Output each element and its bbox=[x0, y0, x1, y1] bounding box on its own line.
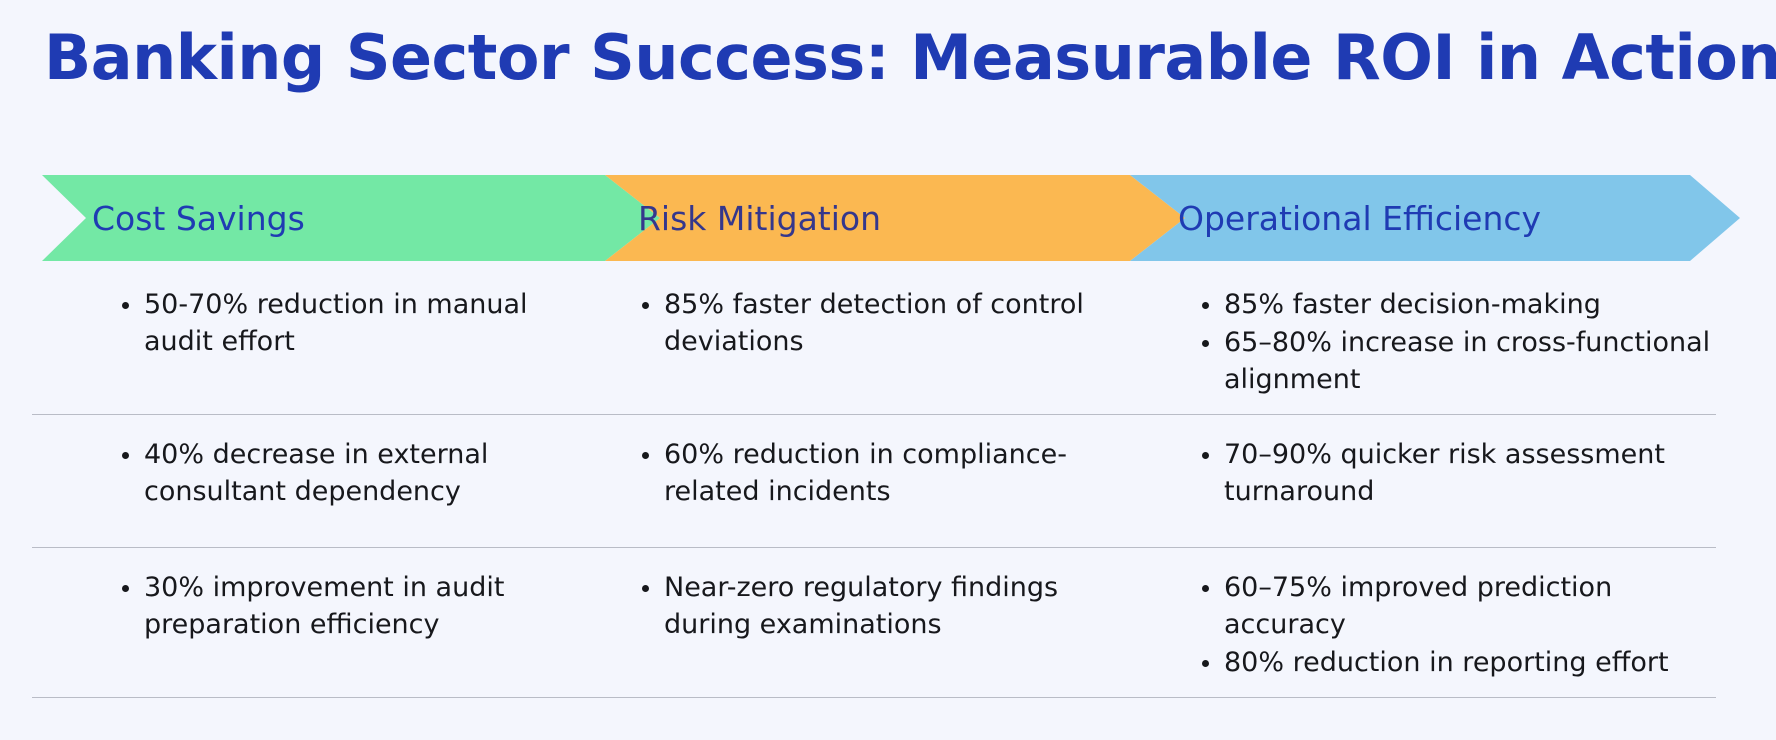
bullet-list: 85% faster decision-making 65–80% increa… bbox=[1180, 286, 1736, 398]
cell-risk-mitigation-3: Near-zero regulatory findings during exa… bbox=[600, 569, 1140, 697]
table-row: 50-70% reduction in manual audit effort … bbox=[0, 282, 1776, 414]
page-title: Banking Sector Success: Measurable ROI i… bbox=[44, 22, 1744, 93]
slide-root: Banking Sector Success: Measurable ROI i… bbox=[0, 0, 1776, 740]
bullet-list: 50-70% reduction in manual audit effort bbox=[100, 286, 570, 360]
bullet-list: 70–90% quicker risk assessment turnaroun… bbox=[1180, 436, 1736, 510]
table-row: 40% decrease in external consultant depe… bbox=[0, 414, 1776, 547]
bullet-list: 60–75% improved prediction accuracy 80% … bbox=[1180, 569, 1736, 681]
bullet-list: Near-zero regulatory findings during exa… bbox=[620, 569, 1110, 643]
list-item: 60–75% improved prediction accuracy bbox=[1202, 569, 1736, 643]
cell-cost-savings-2: 40% decrease in external consultant depe… bbox=[0, 436, 600, 547]
cell-operational-efficiency-1: 85% faster decision-making 65–80% increa… bbox=[1140, 286, 1776, 414]
content-grid: 50-70% reduction in manual audit effort … bbox=[0, 282, 1776, 697]
list-item: Near-zero regulatory findings during exa… bbox=[642, 569, 1110, 643]
cell-operational-efficiency-3: 60–75% improved prediction accuracy 80% … bbox=[1140, 569, 1776, 697]
bullet-list: 60% reduction in compliance-related inci… bbox=[620, 436, 1110, 510]
cell-risk-mitigation-1: 85% faster detection of control deviatio… bbox=[600, 286, 1140, 414]
chevron-shape-cost-savings[interactable] bbox=[42, 175, 660, 261]
chevron-band-svg bbox=[0, 175, 1776, 261]
cell-cost-savings-3: 30% improvement in audit preparation eff… bbox=[0, 569, 600, 697]
list-item: 85% faster detection of control deviatio… bbox=[642, 286, 1110, 360]
cell-cost-savings-1: 50-70% reduction in manual audit effort bbox=[0, 286, 600, 414]
row-divider-1 bbox=[32, 414, 1716, 415]
list-item: 50-70% reduction in manual audit effort bbox=[122, 286, 570, 360]
cell-operational-efficiency-2: 70–90% quicker risk assessment turnaroun… bbox=[1140, 436, 1776, 547]
list-item: 40% decrease in external consultant depe… bbox=[122, 436, 570, 510]
chevron-shape-risk-mitigation[interactable] bbox=[605, 175, 1185, 261]
table-row: 30% improvement in audit preparation eff… bbox=[0, 547, 1776, 697]
chevron-shape-operational-efficiency[interactable] bbox=[1130, 175, 1740, 261]
list-item: 65–80% increase in cross-functional alig… bbox=[1202, 324, 1736, 398]
bullet-list: 40% decrease in external consultant depe… bbox=[100, 436, 570, 510]
list-item: 70–90% quicker risk assessment turnaroun… bbox=[1202, 436, 1736, 510]
list-item: 30% improvement in audit preparation eff… bbox=[122, 569, 570, 643]
list-item: 85% faster decision-making bbox=[1202, 286, 1736, 323]
chevron-band bbox=[0, 175, 1776, 261]
list-item: 60% reduction in compliance-related inci… bbox=[642, 436, 1110, 510]
row-divider-2 bbox=[32, 547, 1716, 548]
bullet-list: 85% faster detection of control deviatio… bbox=[620, 286, 1110, 360]
cell-risk-mitigation-2: 60% reduction in compliance-related inci… bbox=[600, 436, 1140, 547]
list-item: 80% reduction in reporting effort bbox=[1202, 644, 1736, 681]
row-divider-3 bbox=[32, 697, 1716, 698]
bullet-list: 30% improvement in audit preparation eff… bbox=[100, 569, 570, 643]
